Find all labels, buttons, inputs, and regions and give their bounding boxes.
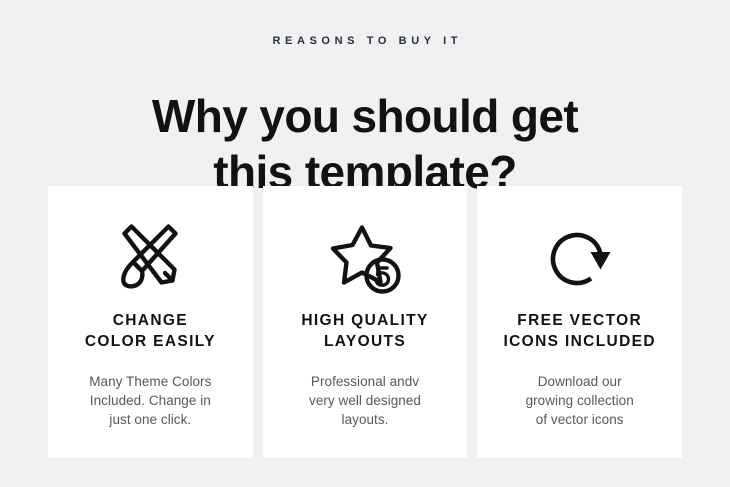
- feature-card-change-color-easily: CHANGE COLOR EASILY Many Theme Colors In…: [48, 186, 253, 458]
- feature-card-title: CHANGE COLOR EASILY: [85, 310, 216, 352]
- pencil-and-brush-icon: [112, 208, 188, 308]
- feature-card-title: HIGH QUALITY LAYOUTS: [301, 310, 428, 352]
- section-eyebrow: REASONS TO BUY IT: [0, 34, 730, 48]
- promo-features-section: REASONS TO BUY IT Why you should get thi…: [0, 0, 730, 487]
- refresh-circle-arrow-icon: [542, 208, 618, 308]
- page-title: Why you should get this template?: [0, 88, 730, 200]
- feature-card-free-vector-icons: FREE VECTOR ICONS INCLUDED Download our …: [477, 186, 682, 458]
- feature-card-high-quality-layouts: HIGH QUALITY LAYOUTS Professional andv v…: [263, 186, 468, 458]
- feature-card-list: CHANGE COLOR EASILY Many Theme Colors In…: [48, 186, 682, 458]
- feature-card-description: Download our growing collection of vecto…: [526, 372, 634, 429]
- star-rating-five-icon: [327, 208, 403, 308]
- feature-card-description: Many Theme Colors Included. Change in ju…: [89, 372, 211, 429]
- feature-card-description: Professional andv very well designed lay…: [309, 372, 421, 429]
- feature-card-title: FREE VECTOR ICONS INCLUDED: [503, 310, 655, 352]
